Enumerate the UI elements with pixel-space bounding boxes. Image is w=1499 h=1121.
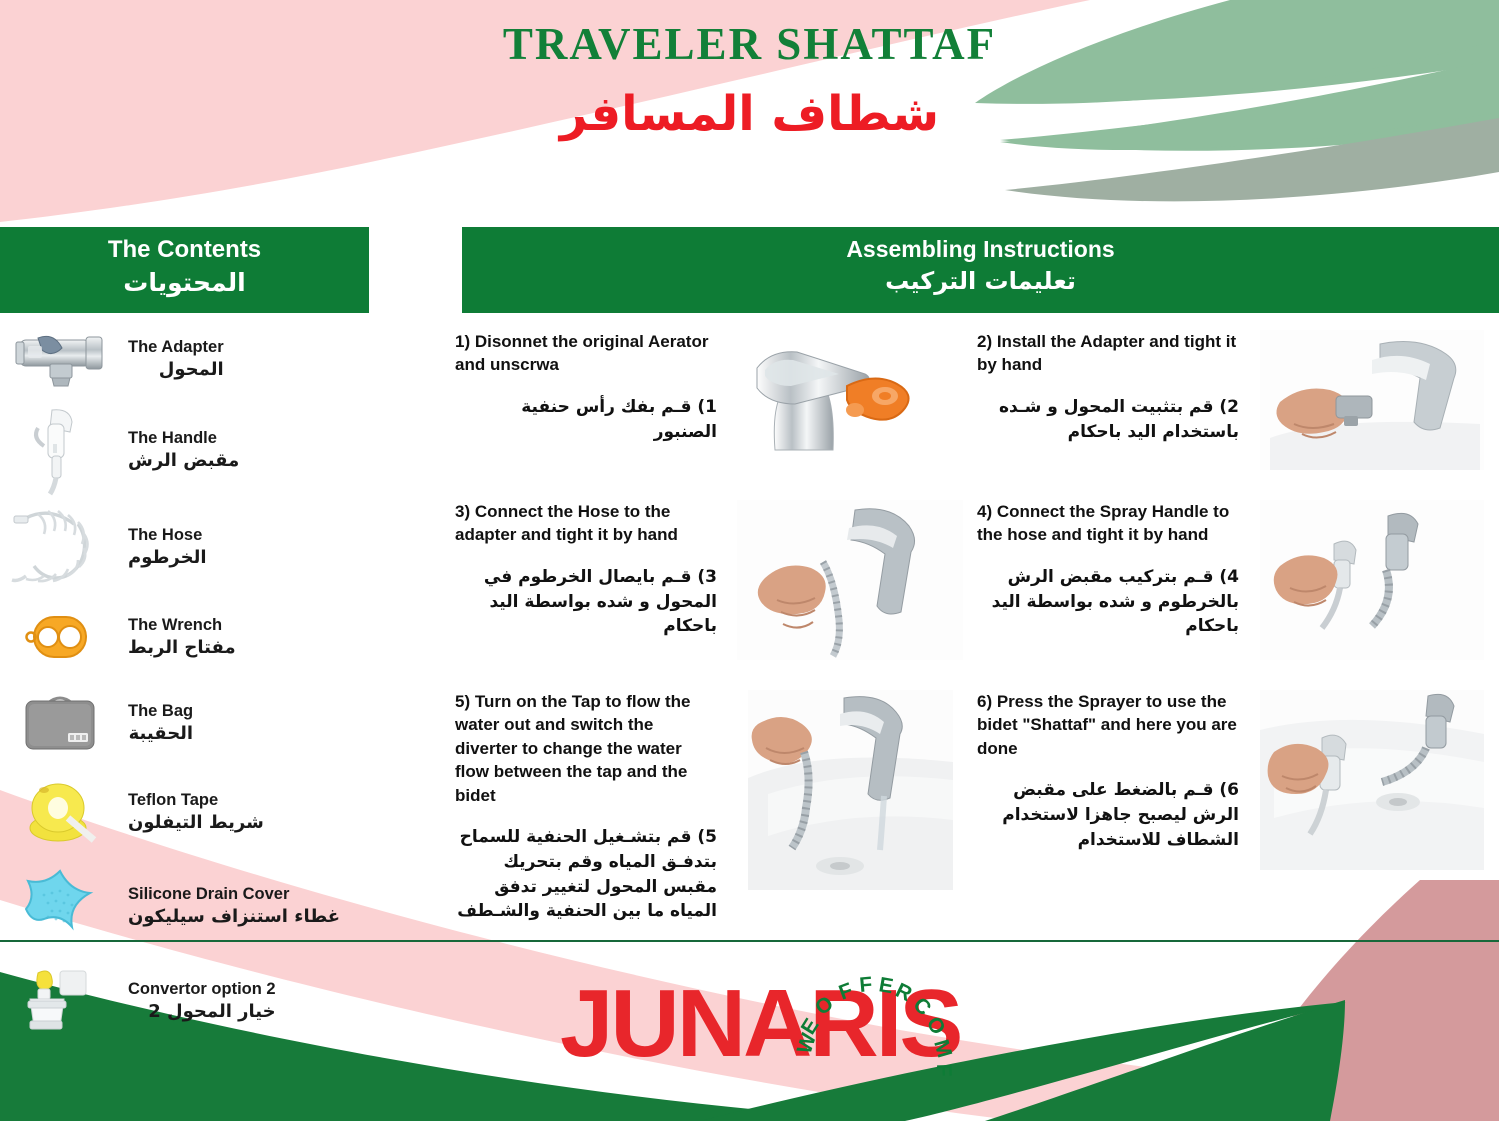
list-item: The Bag الحقيبة: [0, 682, 400, 764]
step-row: 5) Turn on the Tap to flow the water out…: [455, 690, 1499, 920]
instruction-step: 1) Disonnet the original Aerator and uns…: [455, 330, 977, 500]
step-text: 3) Connect the Hose to the adapter and t…: [455, 500, 723, 690]
list-item-label-ar: مفتاح الربط: [128, 636, 236, 659]
list-item: The Adapter المحول: [0, 320, 400, 398]
wrench-icon: [0, 607, 120, 667]
list-item-labels: The Wrench مفتاح الربط: [120, 615, 236, 659]
list-item: The Hose الخرطوم: [0, 502, 400, 592]
contents-header-english: The Contents: [0, 235, 369, 265]
list-item-labels: The Adapter المحول: [120, 337, 224, 381]
instruction-steps: 1) Disonnet the original Aerator and uns…: [455, 330, 1499, 920]
hand-turning-tap-photo: [723, 690, 977, 920]
step-text-ar: 1) قـم بفك رأس حنفية الصنبور: [455, 395, 717, 444]
list-item-label-en: Silicone Drain Cover: [128, 884, 340, 905]
instruction-step: 5) Turn on the Tap to flow the water out…: [455, 690, 977, 920]
list-item-labels: Silicone Drain Cover غطاء استنزاف سيليكو…: [120, 884, 340, 928]
list-item: Teflon Tape شريط التيفلون: [0, 768, 400, 856]
faucet-with-orange-wrench-photo: [723, 330, 977, 500]
step-text: 4) Connect the Spray Handle to the hose …: [977, 500, 1245, 690]
hand-connecting-spray-handle-photo: [1245, 500, 1499, 690]
instruction-step: 3) Connect the Hose to the adapter and t…: [455, 500, 977, 690]
list-item-label-ar: خيار المحول 2: [128, 1000, 276, 1023]
footer-separator-line: [0, 940, 1499, 942]
hand-pressing-sprayer-photo: [1245, 690, 1499, 920]
title-english: TRAVELER SHATTAF: [0, 18, 1499, 70]
silicone-star-icon: [0, 865, 120, 947]
list-item: The Wrench مفتاح الربط: [0, 596, 400, 678]
instructions-header-english: Assembling Instructions: [462, 235, 1499, 264]
list-item-label-en: Convertor option 2: [128, 979, 276, 1000]
svg-text:F: F: [858, 973, 873, 997]
adapter-valve-icon: [0, 324, 120, 394]
list-item-labels: The Hose الخرطوم: [120, 525, 207, 569]
step-text-ar: 5) قم بتشـغيل الحنفية للسماح بتدفـق المي…: [455, 825, 717, 924]
instructions-header-arabic: تعليمات التركيب: [462, 266, 1499, 296]
instruction-step: 6) Press the Sprayer to use the bidet "S…: [977, 690, 1499, 920]
teflon-tape-icon: [0, 774, 120, 850]
list-item-label-en: The Hose: [128, 525, 207, 546]
list-item-label-ar: مقبض الرش: [128, 449, 239, 472]
list-item-label-en: Teflon Tape: [128, 790, 264, 811]
travel-bag-icon: [0, 689, 120, 757]
instruction-step: 4) Connect the Spray Handle to the hose …: [977, 500, 1499, 690]
list-item-label-en: The Handle: [128, 428, 239, 449]
list-item-label-ar: غطاء استنزاف سيليكون: [128, 905, 340, 928]
step-text: 2) Install the Adapter and tight it by h…: [977, 330, 1245, 500]
step-text-ar: 3) قـم بايصال الخرطوم في المحول و شده بو…: [455, 565, 717, 639]
coiled-hose-icon: [0, 504, 120, 590]
list-item: Silicone Drain Cover غطاء استنزاف سيليكو…: [0, 860, 400, 952]
contents-header-arabic: المحتويات: [0, 267, 369, 298]
step-text-en: 6) Press the Sprayer to use the bidet "S…: [977, 690, 1239, 760]
step-row: 1) Disonnet the original Aerator and uns…: [455, 330, 1499, 500]
contents-header: The Contents المحتويات: [0, 227, 369, 313]
list-item-labels: The Handle مقبض الرش: [120, 428, 239, 472]
list-item-label-ar: المحول: [128, 358, 224, 381]
list-item-label-en: The Wrench: [128, 615, 236, 636]
list-item: Convertor option 2 خيار المحول 2: [0, 956, 400, 1046]
step-text-ar: 6) قـم بالضغط على مقبض الرش ليصبح جاهزا …: [977, 778, 1239, 852]
page-title-block: TRAVELER SHATTAF شطاف المسافر: [0, 18, 1499, 142]
step-row: 3) Connect the Hose to the adapter and t…: [455, 500, 1499, 690]
list-item-labels: Teflon Tape شريط التيفلون: [120, 790, 264, 834]
step-text-en: 2) Install the Adapter and tight it by h…: [977, 330, 1239, 377]
list-item-label-ar: الحقيبة: [128, 722, 193, 745]
svg-text:F: F: [932, 1063, 955, 1077]
instructions-header: Assembling Instructions تعليمات التركيب: [462, 227, 1499, 313]
convertor-icon: [0, 961, 120, 1041]
step-text-ar: 2) قم بتثبيت المحول و شـده باستخدام اليد…: [977, 395, 1239, 444]
junaris-logo: JUNARIS W E O F F E R C O M F O R T: [560, 950, 990, 1080]
title-arabic: شطاف المسافر: [0, 86, 1499, 142]
list-item-label-ar: شريط التيفلون: [128, 811, 264, 834]
step-text-en: 5) Turn on the Tap to flow the water out…: [455, 690, 717, 807]
step-text-ar: 4) قـم بتركيب مقبض الرش بالخرطوم و شده ب…: [977, 565, 1239, 639]
list-item: The Handle مقبض الرش: [0, 402, 400, 498]
step-text-en: 3) Connect the Hose to the adapter and t…: [455, 500, 717, 547]
list-item-label-ar: الخرطوم: [128, 546, 207, 569]
step-text-en: 1) Disonnet the original Aerator and uns…: [455, 330, 717, 377]
step-text: 5) Turn on the Tap to flow the water out…: [455, 690, 723, 920]
step-text-en: 4) Connect the Spray Handle to the hose …: [977, 500, 1239, 547]
list-item-label-en: The Bag: [128, 701, 193, 722]
step-text: 1) Disonnet the original Aerator and uns…: [455, 330, 723, 500]
list-item-labels: The Bag الحقيبة: [120, 701, 193, 745]
hand-installing-adapter-photo: [1245, 330, 1499, 500]
hand-connecting-hose-photo: [723, 500, 977, 690]
instruction-step: 2) Install the Adapter and tight it by h…: [977, 330, 1499, 500]
step-text: 6) Press the Sprayer to use the bidet "S…: [977, 690, 1245, 920]
spray-handle-icon: [0, 404, 120, 496]
list-item-label-en: The Adapter: [128, 337, 224, 358]
list-item-labels: Convertor option 2 خيار المحول 2: [120, 979, 276, 1023]
